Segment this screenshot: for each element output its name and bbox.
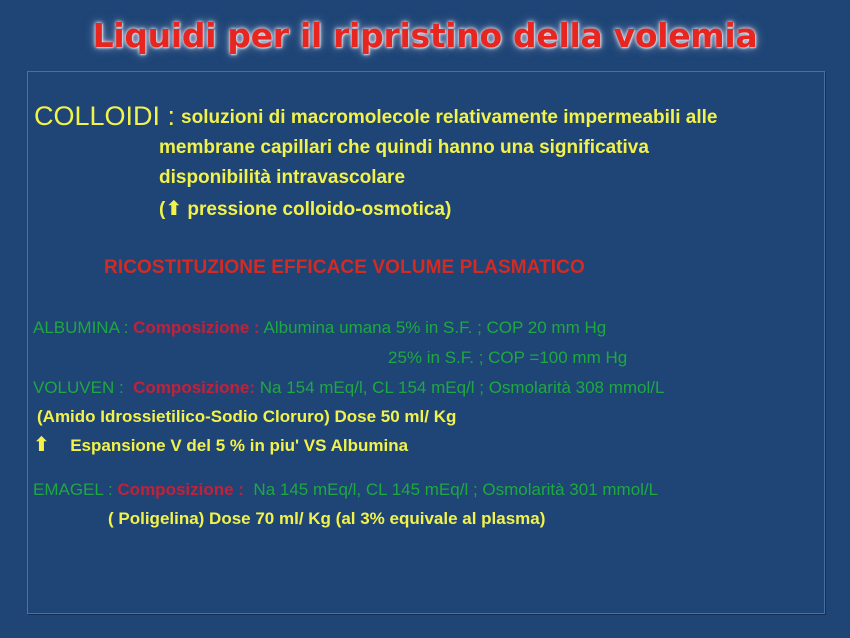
emagel-row: EMAGEL : Composizione : Na 145 mEq/l, CL…: [33, 481, 658, 498]
emagel-line-2: ( Poligelina) Dose 70 ml/ Kg (al 3% equi…: [108, 510, 545, 527]
albumina-row: ALBUMINA : Composizione : Albumina umana…: [33, 319, 606, 336]
emagel-line-1: Na 145 mEq/l, CL 145 mEq/l ; Osmolarità …: [253, 480, 658, 499]
colloidi-line-2: membrane capillari che quindi hanno una …: [159, 138, 649, 157]
albumina-name: ALBUMINA :: [33, 318, 128, 337]
red-heading: RICOSTITUZIONE EFFICACE VOLUME PLASMATIC…: [104, 258, 585, 277]
page-title: Liquidi per il ripristino della volemia: [93, 16, 758, 55]
emagel-name: EMAGEL :: [33, 480, 113, 499]
albumina-line-1: Albumina umana 5% in S.F. ; COP 20 mm Hg: [264, 318, 607, 337]
up-arrow-icon: ⬆: [165, 198, 182, 218]
emagel-composizione-label: Composizione :: [117, 480, 244, 499]
voluven-line-2: (Amido Idrossietilico-Sodio Cloruro) Dos…: [37, 408, 456, 425]
colloidi-line-3: disponibilità intravascolare: [159, 168, 405, 187]
voluven-expansion-text: Espansione V del 5 % in piu' VS Albumina: [70, 436, 408, 455]
colloidi-line-1: soluzioni di macromolecole relativamente…: [181, 107, 717, 128]
voluven-line-1: Na 154 mEq/l, CL 154 mEq/l ; Osmolarità …: [260, 378, 665, 397]
voluven-composizione-label: Composizione:: [133, 378, 255, 397]
slide-canvas: Liquidi per il ripristino della volemia …: [0, 0, 850, 638]
voluven-expansion-row: ⬆ Espansione V del 5 % in piu' VS Albumi…: [33, 434, 408, 455]
colloidi-heading-row: COLLOIDI :soluzioni di macromolecole rel…: [34, 103, 717, 130]
albumina-line-2: 25% in S.F. ; COP =100 mm Hg: [388, 349, 627, 366]
up-arrow-icon: ⬆: [33, 434, 50, 454]
voluven-row: VOLUVEN : Composizione: Na 154 mEq/l, CL…: [33, 379, 664, 396]
voluven-name: VOLUVEN :: [33, 378, 124, 397]
title-bar: Liquidi per il ripristino della volemia: [0, 16, 850, 55]
albumina-composizione-label: Composizione :: [133, 318, 260, 337]
content-frame: COLLOIDI :soluzioni di macromolecole rel…: [27, 71, 825, 614]
colloidi-osmotic-row: (⬆ pressione colloido-osmotica): [159, 198, 451, 219]
colloidi-label: COLLOIDI :: [34, 101, 175, 131]
colloidi-osmotic-text: pressione colloido-osmotica): [182, 199, 451, 220]
